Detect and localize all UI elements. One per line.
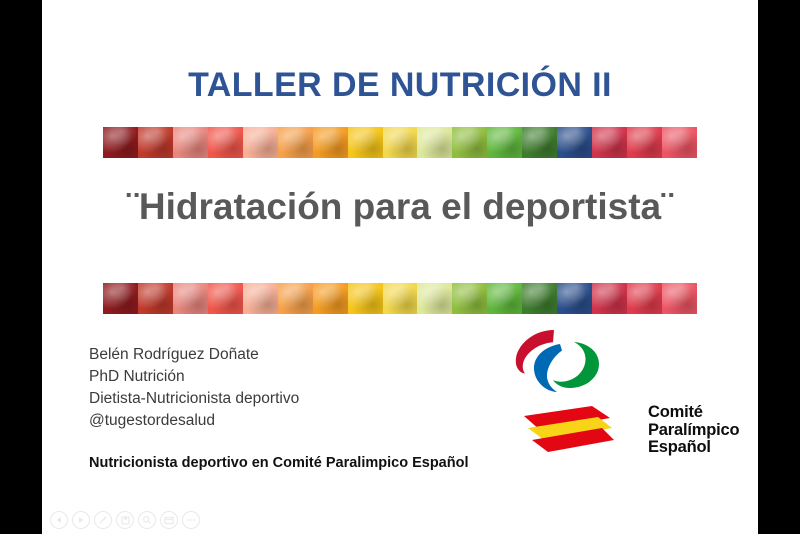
food-strip-segment xyxy=(243,283,278,314)
food-strip-segment xyxy=(627,283,662,314)
food-strip-segment xyxy=(138,127,173,158)
logo-text-line2: Paralímpico xyxy=(648,422,739,440)
food-strip-segment xyxy=(313,127,348,158)
logo-text-line3: Español xyxy=(648,439,739,457)
food-strip-segment xyxy=(278,127,313,158)
presentation-slide: TALLER DE NUTRICIÓN II ¨Hidratación para… xyxy=(42,0,758,534)
food-strip-segment xyxy=(487,283,522,314)
food-strip-segment xyxy=(103,283,138,314)
food-strip-segment xyxy=(592,127,627,158)
video-player: TALLER DE NUTRICIÓN II ¨Hidratación para… xyxy=(0,0,800,534)
food-strip-segment xyxy=(383,283,418,314)
food-strip-segment xyxy=(313,283,348,314)
logo-text-line1: Comité xyxy=(648,404,739,422)
play-icon[interactable] xyxy=(72,511,90,529)
food-strip-segment xyxy=(348,127,383,158)
letterbox-right xyxy=(758,0,800,534)
author-name: Belén Rodríguez Doñate xyxy=(89,344,299,366)
more-icon[interactable] xyxy=(182,511,200,529)
food-strip-segment xyxy=(138,283,173,314)
food-strip-segment xyxy=(173,283,208,314)
food-strip-segment xyxy=(522,283,557,314)
logo-text: Comité Paralímpico Español xyxy=(648,404,739,457)
food-strip-segment xyxy=(383,127,418,158)
author-handle: @tugestordesalud xyxy=(89,410,299,432)
author-degree: PhD Nutrición xyxy=(89,366,299,388)
food-strip-segment xyxy=(278,283,313,314)
author-block: Belén Rodríguez Doñate PhD Nutrición Die… xyxy=(89,344,299,432)
food-strip-segment xyxy=(417,127,452,158)
food-strip-segment xyxy=(103,127,138,158)
food-strip-segment xyxy=(627,127,662,158)
food-strip-segment xyxy=(348,283,383,314)
food-strip-segment xyxy=(208,283,243,314)
food-rainbow-strip-top xyxy=(103,127,697,158)
food-strip-segment xyxy=(417,283,452,314)
slide-subtitle: ¨Hidratación para el deportista¨ xyxy=(42,186,758,228)
comite-paralimpico-espanol-logo: Comité Paralímpico Español xyxy=(510,328,746,462)
food-strip-segment xyxy=(487,127,522,158)
spanish-flag-icon xyxy=(514,406,616,456)
food-strip-segment xyxy=(452,127,487,158)
food-strip-segment xyxy=(208,127,243,158)
food-strip-segment xyxy=(522,127,557,158)
food-strip-segment xyxy=(452,283,487,314)
food-strip-segment xyxy=(662,283,697,314)
player-control-bar[interactable] xyxy=(50,511,200,529)
search-icon[interactable] xyxy=(138,511,156,529)
page-title: TALLER DE NUTRICIÓN II xyxy=(42,66,758,105)
footer-note: Nutricionista deportivo en Comité Parali… xyxy=(89,455,469,471)
food-strip-segment xyxy=(243,127,278,158)
author-role: Dietista-Nutricionista deportivo xyxy=(89,388,299,410)
food-rainbow-strip-bottom xyxy=(103,283,697,314)
letterbox-left xyxy=(0,0,42,534)
save-icon[interactable] xyxy=(116,511,134,529)
fullscreen-icon[interactable] xyxy=(160,511,178,529)
pen-icon[interactable] xyxy=(94,511,112,529)
previous-icon[interactable] xyxy=(50,511,68,529)
food-strip-segment xyxy=(592,283,627,314)
food-strip-segment xyxy=(173,127,208,158)
food-strip-segment xyxy=(557,127,592,158)
food-strip-segment xyxy=(662,127,697,158)
food-strip-segment xyxy=(557,283,592,314)
agitos-icon xyxy=(512,328,618,396)
